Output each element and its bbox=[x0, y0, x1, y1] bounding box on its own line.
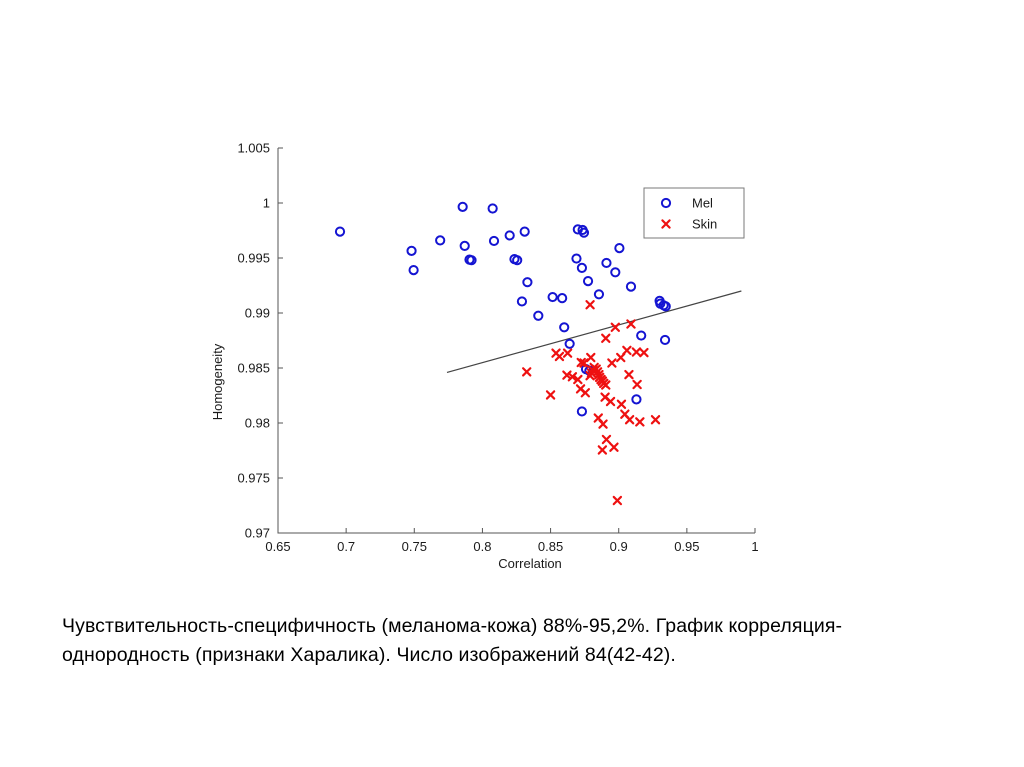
data-point-mel bbox=[549, 293, 557, 301]
x-tick-label: 0.9 bbox=[610, 539, 628, 554]
data-point-mel bbox=[560, 323, 568, 331]
data-point-mel bbox=[632, 395, 640, 403]
data-point-skin bbox=[556, 353, 563, 360]
x-tick-label: 0.8 bbox=[473, 539, 491, 554]
data-point-mel bbox=[584, 277, 592, 285]
data-point-skin bbox=[564, 350, 571, 357]
data-point-skin bbox=[523, 368, 530, 375]
slide-canvas: 0.650.70.750.80.850.90.9510.970.9750.980… bbox=[0, 0, 1024, 767]
x-tick-label: 1 bbox=[751, 539, 758, 554]
data-point-mel bbox=[602, 259, 610, 267]
data-point-skin bbox=[625, 371, 632, 378]
data-point-mel bbox=[336, 228, 344, 236]
data-point-skin bbox=[618, 401, 625, 408]
data-point-mel bbox=[410, 266, 418, 274]
legend-label-skin: Skin bbox=[692, 217, 717, 232]
data-point-skin bbox=[626, 416, 633, 423]
data-point-skin bbox=[586, 301, 593, 308]
data-point-skin bbox=[602, 335, 609, 342]
y-tick-label: 0.975 bbox=[237, 471, 270, 486]
data-point-mel bbox=[578, 407, 586, 415]
data-point-skin bbox=[652, 416, 659, 423]
y-tick-label: 1.005 bbox=[237, 141, 270, 156]
series-mel bbox=[336, 203, 670, 416]
y-tick-label: 0.98 bbox=[245, 416, 270, 431]
data-point-mel bbox=[461, 242, 469, 250]
data-point-skin bbox=[617, 354, 624, 361]
data-point-mel bbox=[627, 283, 635, 291]
y-tick-label: 1 bbox=[263, 196, 270, 211]
data-point-skin bbox=[587, 354, 594, 361]
data-point-skin bbox=[599, 446, 606, 453]
y-tick-label: 0.985 bbox=[237, 361, 270, 376]
data-point-skin bbox=[633, 348, 640, 355]
data-point-mel bbox=[506, 231, 514, 239]
data-point-mel bbox=[611, 268, 619, 276]
data-point-skin bbox=[614, 497, 621, 504]
y-tick-label: 0.99 bbox=[245, 306, 270, 321]
x-tick-label: 0.95 bbox=[674, 539, 699, 554]
data-point-mel bbox=[558, 294, 566, 302]
data-point-skin bbox=[636, 418, 643, 425]
x-tick-label: 0.65 bbox=[265, 539, 290, 554]
data-point-mel bbox=[521, 228, 529, 236]
data-point-skin bbox=[610, 444, 617, 451]
data-point-mel bbox=[407, 247, 415, 255]
chart-legend[interactable]: MelSkin bbox=[644, 188, 744, 238]
data-point-skin bbox=[612, 324, 619, 331]
data-point-skin bbox=[640, 349, 647, 356]
x-tick-label: 0.85 bbox=[538, 539, 563, 554]
data-point-mel bbox=[595, 290, 603, 298]
x-tick-label: 0.7 bbox=[337, 539, 355, 554]
data-point-skin bbox=[634, 381, 641, 388]
data-point-skin bbox=[603, 436, 610, 443]
legend-label-mel: Mel bbox=[692, 196, 713, 211]
data-point-mel bbox=[578, 264, 586, 272]
data-point-mel bbox=[637, 331, 645, 339]
data-point-mel bbox=[523, 278, 531, 286]
data-point-mel bbox=[572, 254, 580, 262]
data-point-mel bbox=[534, 312, 542, 320]
data-point-skin bbox=[582, 389, 589, 396]
data-point-skin bbox=[547, 391, 554, 398]
data-point-skin bbox=[599, 421, 606, 428]
data-point-mel bbox=[566, 340, 574, 348]
y-tick-label: 0.995 bbox=[237, 251, 270, 266]
data-point-mel bbox=[661, 336, 669, 344]
data-point-mel bbox=[459, 203, 467, 211]
data-point-mel bbox=[490, 237, 498, 245]
data-point-mel bbox=[436, 236, 444, 244]
plot-svg: 0.650.70.750.80.850.90.9510.970.9750.980… bbox=[200, 130, 800, 590]
slide-caption: Чувствительность-специфичность (меланома… bbox=[62, 612, 962, 670]
scatter-figure: 0.650.70.750.80.850.90.9510.970.9750.980… bbox=[200, 130, 800, 590]
data-point-skin bbox=[608, 359, 615, 366]
data-point-mel bbox=[489, 204, 497, 212]
x-tick-label: 0.75 bbox=[402, 539, 427, 554]
y-axis-title: Homogeneity bbox=[210, 343, 225, 420]
x-axis-title: Correlation bbox=[498, 556, 562, 571]
y-tick-label: 0.97 bbox=[245, 526, 270, 541]
data-point-mel bbox=[615, 244, 623, 252]
data-point-mel bbox=[518, 297, 526, 305]
data-points-group bbox=[336, 203, 670, 504]
